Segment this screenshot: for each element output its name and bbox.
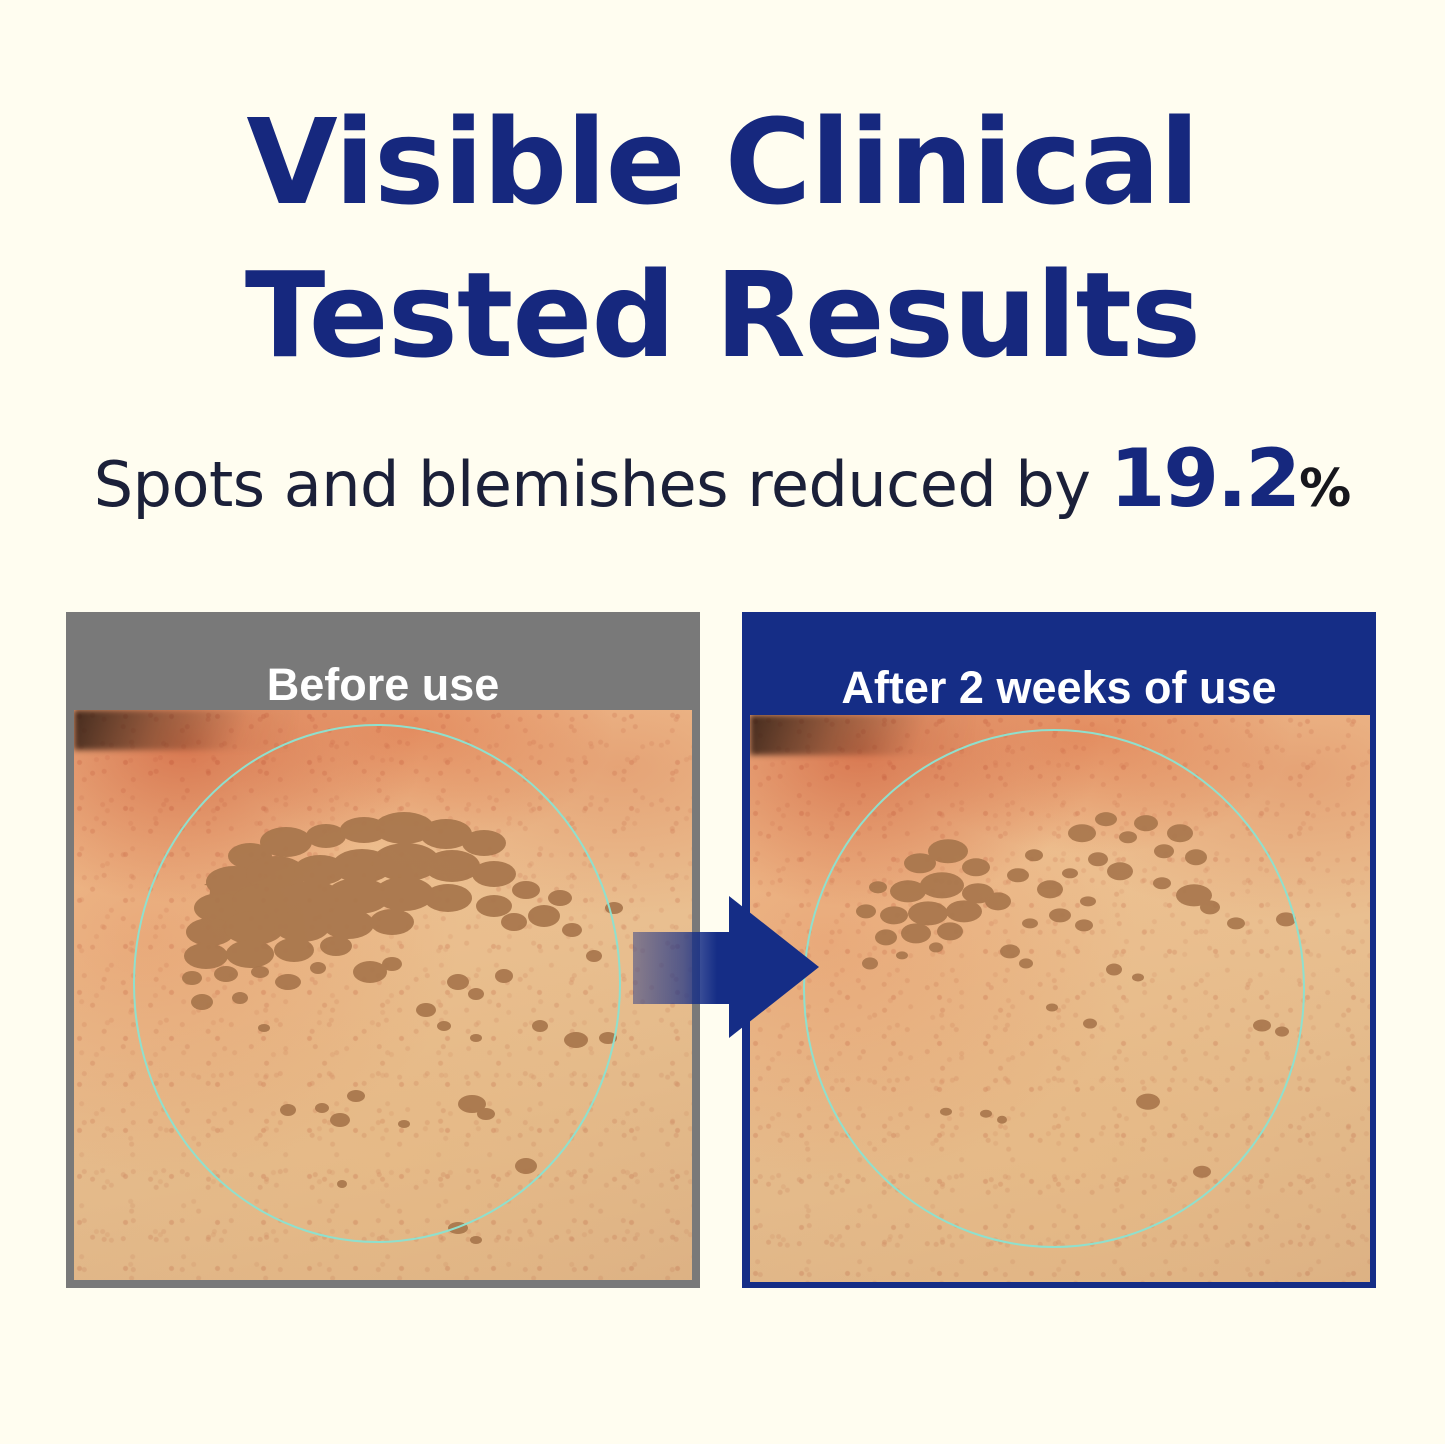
after-measurement-circle [803,729,1305,1248]
reduction-value: 19.2 [1110,432,1299,525]
promo-canvas: Visible Clinical Tested Results Spots an… [0,0,1445,1444]
before-panel: Before use [66,612,700,1288]
before-measurement-circle [133,724,621,1243]
after-skin-photo [750,715,1370,1282]
after-panel: After 2 weeks of use [742,612,1376,1288]
reduction-unit: % [1299,459,1351,519]
subtitle-prefix: Spots and blemishes reduced by [94,448,1110,521]
subtitle: Spots and blemishes reduced by 19.2% [0,432,1445,525]
arrow-right-icon [633,888,819,1046]
before-skin-photo [74,710,692,1280]
page-title: Visible Clinical Tested Results [0,86,1445,392]
